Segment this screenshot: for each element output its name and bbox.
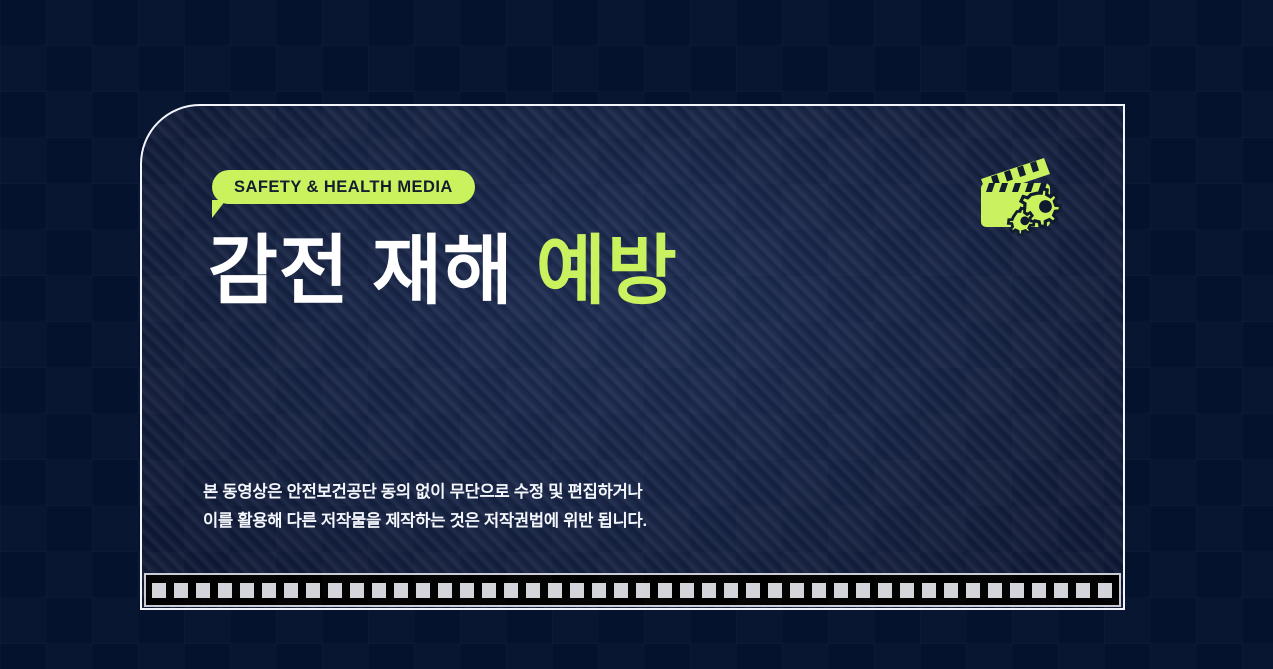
category-badge-label: SAFETY & HEALTH MEDIA	[234, 178, 453, 197]
film-perforation	[350, 583, 364, 598]
film-perforation	[570, 583, 584, 598]
film-perforation	[284, 583, 298, 598]
film-perforation	[614, 583, 628, 598]
film-perforation	[636, 583, 650, 598]
film-perforation	[680, 583, 694, 598]
film-perforation	[196, 583, 210, 598]
film-perforation	[900, 583, 914, 598]
film-perforation	[856, 583, 870, 598]
disclaimer-line-2: 이를 활용해 다른 저작물을 제작하는 것은 저작권법에 위반 됩니다.	[203, 507, 647, 536]
film-perforation	[944, 583, 958, 598]
film-perforation	[1054, 583, 1068, 598]
film-perforation	[504, 583, 518, 598]
film-perforation	[768, 583, 782, 598]
film-perforation	[526, 583, 540, 598]
title-slide: SAFETY & HEALTH MEDIA 감전 재해 예방 본 동영상은 안전…	[0, 0, 1273, 669]
film-perforation	[1010, 583, 1024, 598]
film-perforation	[218, 583, 232, 598]
film-perforation	[306, 583, 320, 598]
film-perforation	[878, 583, 892, 598]
film-perforation	[1098, 583, 1112, 598]
film-perforation	[1032, 583, 1046, 598]
film-perforation	[438, 583, 452, 598]
category-badge: SAFETY & HEALTH MEDIA	[212, 170, 475, 204]
film-perforation	[658, 583, 672, 598]
film-perforation	[812, 583, 826, 598]
film-perforation	[174, 583, 188, 598]
film-perforation	[152, 583, 166, 598]
film-strip	[144, 573, 1121, 607]
film-perforation	[262, 583, 276, 598]
badge-tail-pointer	[212, 200, 226, 218]
film-perforation	[416, 583, 430, 598]
film-perforation	[966, 583, 980, 598]
page-title: 감전 재해 예방	[208, 234, 678, 310]
film-perforation	[790, 583, 804, 598]
clapperboard-gears-icon	[975, 152, 1063, 240]
title-white-part: 감전 재해	[208, 229, 514, 314]
disclaimer-line-1: 본 동영상은 안전보건공단 동의 없이 무단으로 수정 및 편집하거나	[203, 478, 647, 507]
film-perforation	[1076, 583, 1090, 598]
copyright-disclaimer: 본 동영상은 안전보건공단 동의 없이 무단으로 수정 및 편집하거나 이를 활…	[203, 478, 647, 536]
film-perforation	[702, 583, 716, 598]
film-perforation	[834, 583, 848, 598]
film-perforation	[328, 583, 342, 598]
film-perforation	[482, 583, 496, 598]
title-lime-part: 예방	[536, 229, 678, 314]
film-perforation	[746, 583, 760, 598]
film-perforation	[394, 583, 408, 598]
film-perforation	[988, 583, 1002, 598]
category-badge-bubble: SAFETY & HEALTH MEDIA	[212, 170, 475, 204]
film-perforation	[240, 583, 254, 598]
film-perforation	[372, 583, 386, 598]
film-perforation	[592, 583, 606, 598]
film-perforation	[460, 583, 474, 598]
film-perforation	[724, 583, 738, 598]
film-perforation	[922, 583, 936, 598]
film-perforation	[548, 583, 562, 598]
